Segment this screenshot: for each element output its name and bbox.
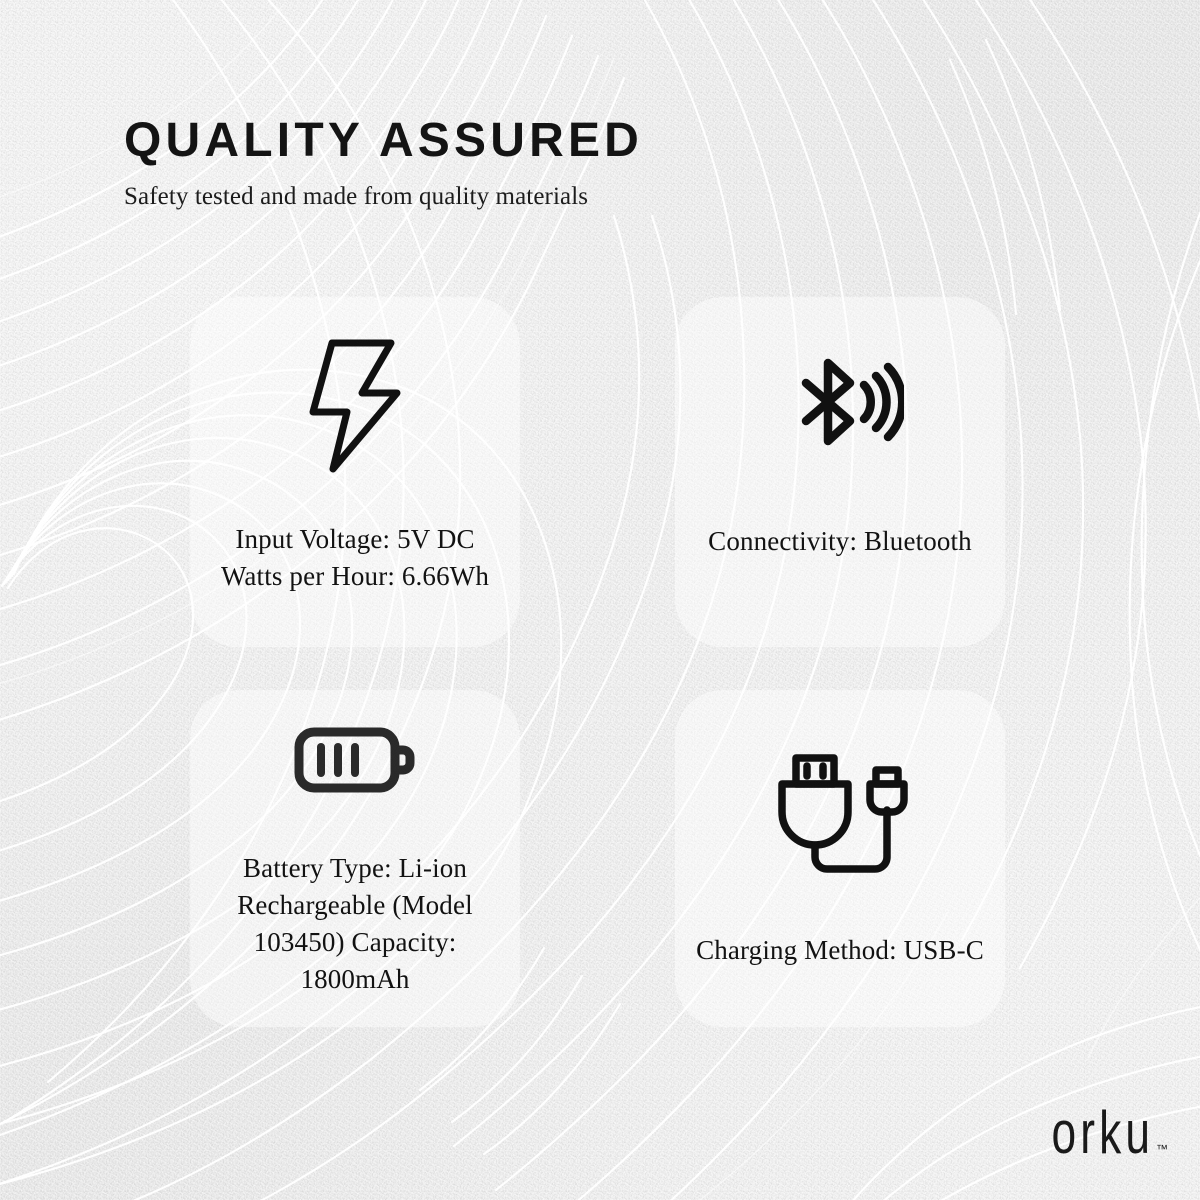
brand-logo-wordmark: orku — [1051, 1106, 1154, 1162]
brand-logo: orku ™ — [1029, 1112, 1168, 1162]
spec-card-text: Connectivity: Bluetooth — [694, 523, 986, 560]
spec-card-input-voltage: Input Voltage: 5V DC Watts per Hour: 6.6… — [190, 297, 520, 647]
spec-card-grid: Input Voltage: 5V DC Watts per Hour: 6.6… — [190, 297, 1020, 1027]
spec-card-battery: Battery Type: Li-ion Rechargeable (Model… — [190, 690, 520, 1027]
spec-card-connectivity: Connectivity: Bluetooth — [675, 297, 1005, 647]
battery-icon — [293, 720, 417, 800]
bluetooth-signal-icon — [776, 349, 904, 457]
trademark-symbol: ™ — [1156, 1142, 1168, 1156]
page-title: QUALITY ASSURED — [124, 116, 1024, 166]
infographic-canvas: QUALITY ASSURED Safety tested and made f… — [0, 0, 1200, 1200]
header-block: QUALITY ASSURED Safety tested and made f… — [124, 116, 1024, 212]
spec-card-text: Input Voltage: 5V DC Watts per Hour: 6.6… — [190, 521, 520, 595]
spec-card-text: Battery Type: Li-ion Rechargeable (Model… — [190, 850, 520, 998]
spec-card-charging-method: Charging Method: USB-C — [675, 690, 1005, 1027]
spec-card-text: Charging Method: USB-C — [682, 932, 998, 969]
usb-cable-icon — [772, 728, 908, 874]
lightning-bolt-icon — [299, 335, 411, 477]
page-subtitle: Safety tested and made from quality mate… — [124, 182, 1024, 212]
